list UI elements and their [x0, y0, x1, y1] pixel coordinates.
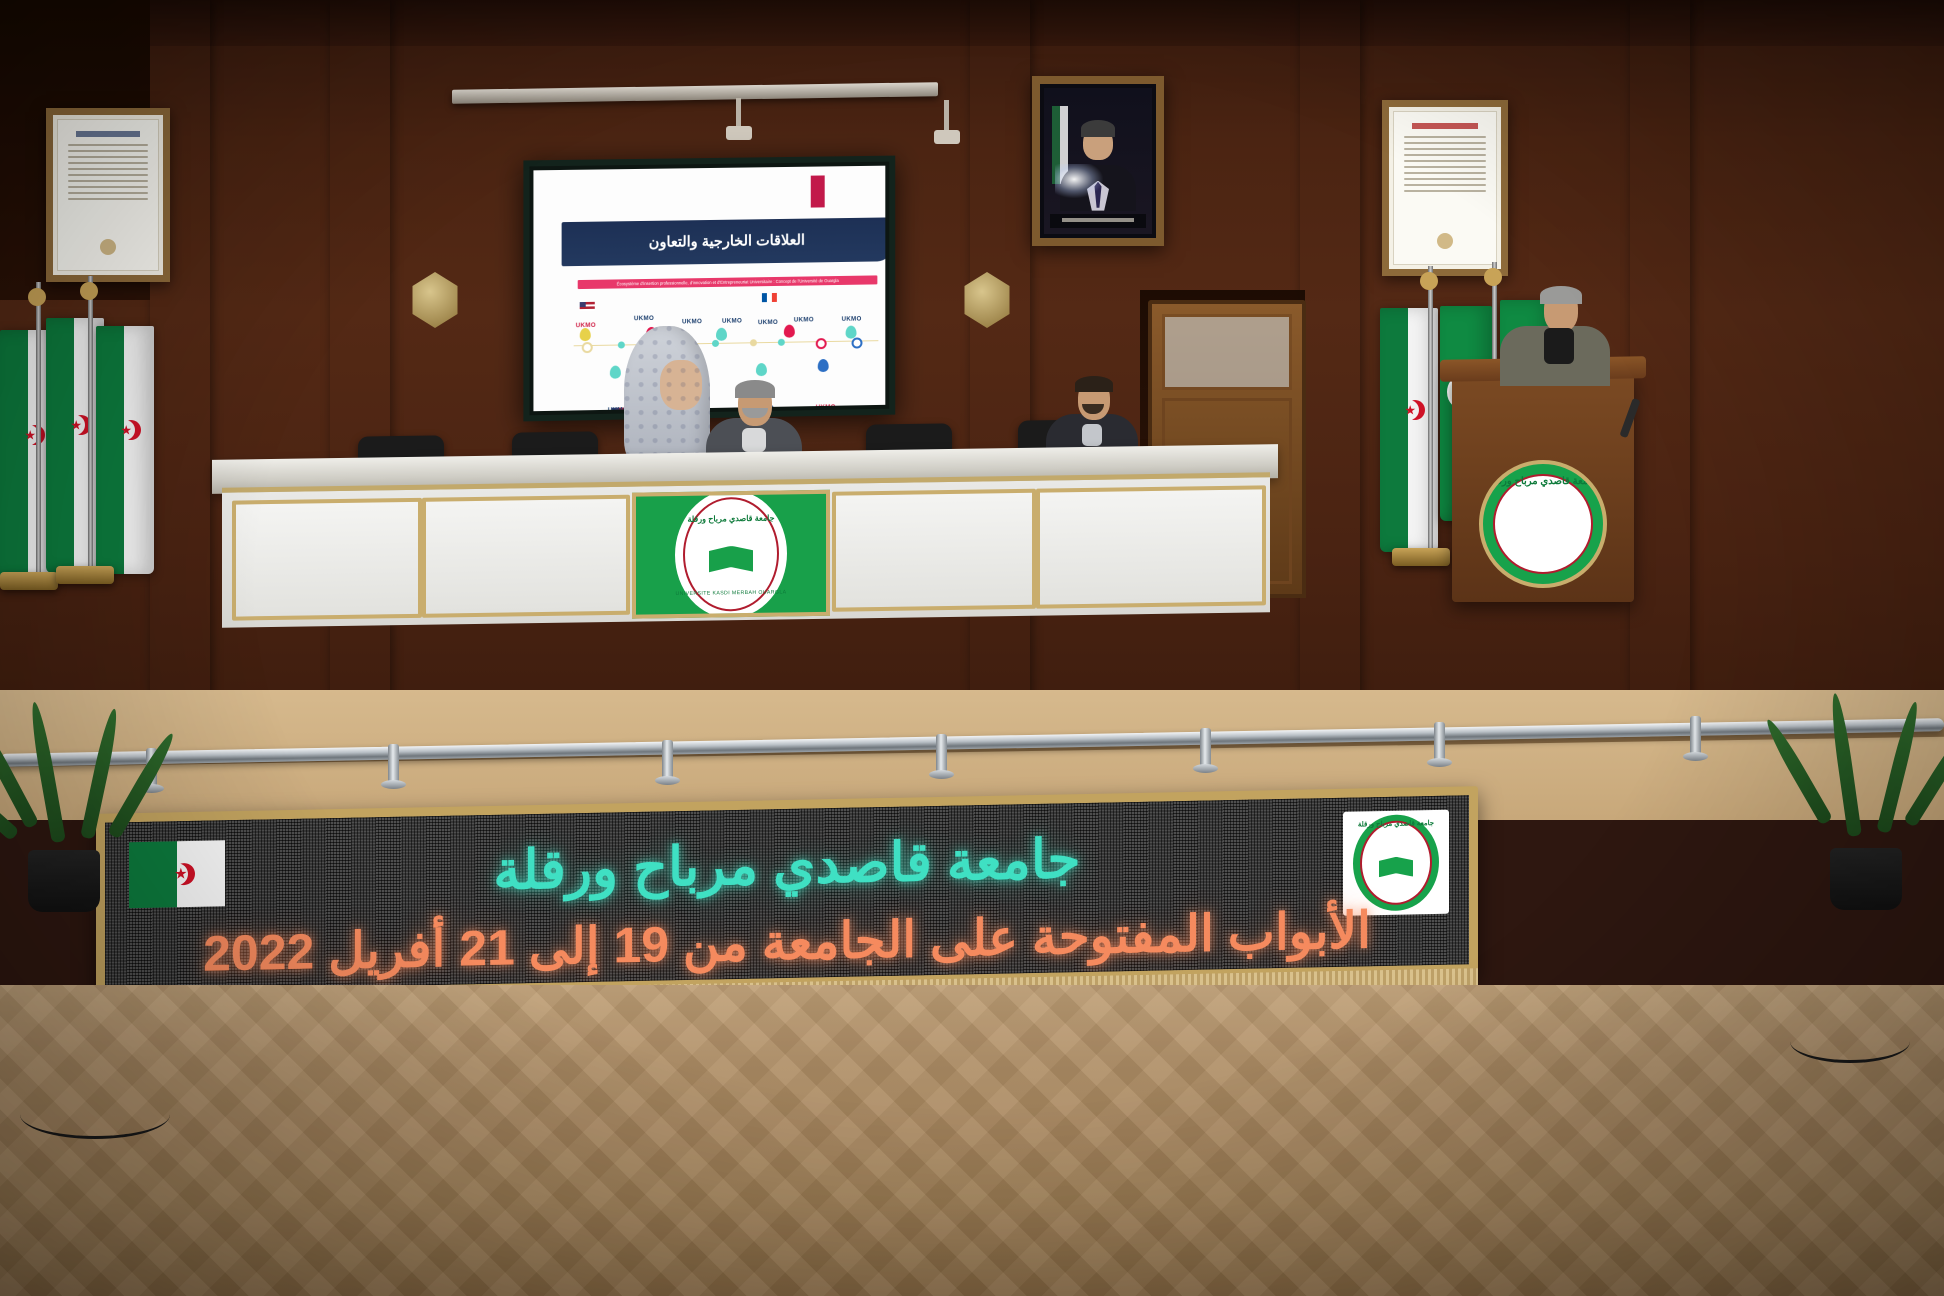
hair [735, 380, 775, 398]
plant-leaf [107, 730, 178, 839]
wall-column-3 [970, 0, 1030, 790]
ceiling-projector [726, 126, 752, 140]
certificate-seal [100, 239, 116, 255]
slide-subtitle: Écosystème d'insertion professionnelle, … [617, 278, 839, 287]
hair [1075, 376, 1113, 392]
conference-hall-photo: العلاقات الخارجية والتعاون Écosystème d'… [0, 0, 1944, 1296]
flag-finial [80, 282, 98, 300]
rail-post [1434, 722, 1445, 762]
fr-flag-icon [762, 293, 777, 302]
timeline-logo: UKMO [816, 404, 836, 411]
hijab-pattern [624, 326, 710, 466]
table-university-logo: جامعة قاصدي مرباح ورقلة UNIVERSITE KASDI… [632, 490, 830, 619]
framed-certificate-right [1382, 100, 1508, 276]
floor-cable [20, 1090, 170, 1139]
flag-finial [1420, 272, 1438, 290]
door-window [1162, 314, 1292, 390]
parquet-floor [0, 985, 1944, 1296]
podium-seal-inner [1493, 474, 1593, 574]
panelist-woman-hijab [620, 326, 712, 466]
flag-finial [28, 288, 46, 306]
hair [1540, 286, 1582, 304]
certificate-header [1412, 123, 1477, 129]
certificate-mat [1393, 111, 1497, 265]
speaker-man [1500, 288, 1610, 384]
podium-seal-text: جامعة قاصدي مرباح ورقلة [1489, 476, 1598, 487]
led-banner-line-1: جامعة قاصدي مرباح ورقلة [105, 819, 1469, 909]
speaker-stem-right [944, 100, 949, 132]
us-flag-icon [580, 302, 595, 311]
table-panel [232, 498, 422, 621]
rail-post [1200, 728, 1211, 768]
timeline-logo: UKMO [758, 319, 778, 326]
rail-post [388, 744, 399, 784]
rail-post [1690, 716, 1701, 756]
ceiling-speaker-right [934, 130, 960, 144]
wall-column-2 [330, 0, 390, 790]
flag-pole [36, 282, 41, 582]
timeline-pin [756, 363, 767, 376]
shirt [742, 428, 766, 452]
timeline-logo: UKMO [682, 318, 702, 325]
shirt [1082, 424, 1102, 446]
portrait-caption [1050, 214, 1145, 228]
led-display: ★ جامعة قاصدي مرباح ورقلة جامعة قاصدي مر… [105, 795, 1469, 994]
flag-pole [88, 276, 93, 582]
portrait-image [1044, 88, 1152, 234]
timeline-node [712, 340, 719, 347]
certificate-header [76, 131, 140, 137]
table-panel [422, 495, 630, 618]
flag-base [0, 572, 58, 590]
flag-finial [1484, 268, 1502, 286]
timeline-logo: UKMO [634, 315, 654, 322]
plant-leaf [1828, 692, 1862, 837]
timeline-pin [716, 328, 727, 341]
certificate-text-lines [1404, 136, 1486, 196]
portrait-glass-glare [1055, 164, 1103, 198]
flag-base [56, 566, 114, 584]
timeline-pin [580, 328, 591, 341]
certificate-seal [1437, 233, 1453, 249]
timeline-node [778, 339, 785, 346]
timeline-node [750, 339, 757, 346]
speaker-podium: جامعة قاصدي مرباح ورقلة [1452, 372, 1634, 602]
timeline-pin [818, 359, 829, 372]
timeline-node [852, 337, 863, 348]
algeria-flag: ★ [96, 326, 154, 574]
wall-column-4 [1300, 0, 1360, 790]
podium-seal: جامعة قاصدي مرباح ورقلة [1479, 460, 1607, 588]
certificate-text-lines [68, 144, 148, 204]
logo-text-ar: جامعة قاصدي مرباح ورقلة [687, 513, 774, 523]
certificate-mat [57, 119, 159, 271]
floor-cable [1790, 1020, 1910, 1063]
table-panel [1036, 485, 1266, 608]
projector-stem [736, 98, 741, 128]
flag-base [1392, 548, 1450, 566]
slide-subtitle-bar: Écosystème d'insertion professionnelle, … [578, 275, 878, 289]
portrait-hair [1081, 120, 1115, 137]
timeline-logo: UKMO [794, 316, 814, 323]
timeline-node [582, 342, 593, 353]
timeline-logo: UKMO [842, 316, 862, 323]
president-portrait [1032, 76, 1164, 246]
parquet-pattern [0, 985, 1944, 1296]
wall-column-5 [1630, 0, 1690, 790]
plant-pot [1830, 848, 1902, 910]
rail-post [936, 734, 947, 774]
timeline-pin [846, 326, 857, 339]
potted-plant-left [0, 700, 170, 930]
framed-certificate-left [46, 108, 170, 282]
slide-accent-block [811, 175, 825, 207]
panel-table-front: جامعة قاصدي مرباح ورقلة UNIVERSITE KASDI… [222, 472, 1270, 628]
timeline-node [816, 338, 827, 349]
plant-pot [28, 850, 100, 912]
shirt [1544, 328, 1574, 364]
table-panel [832, 489, 1036, 612]
timeline-pin [784, 325, 795, 338]
potted-plant-right [1800, 690, 1944, 930]
slide-title: العلاقات الخارجية والتعاون [649, 233, 805, 251]
timeline-logo: UKMO [722, 317, 742, 324]
rail-post [662, 740, 673, 780]
slide-title-bar: العلاقات الخارجية والتعاون [562, 217, 886, 266]
flag-pole [1428, 266, 1433, 566]
